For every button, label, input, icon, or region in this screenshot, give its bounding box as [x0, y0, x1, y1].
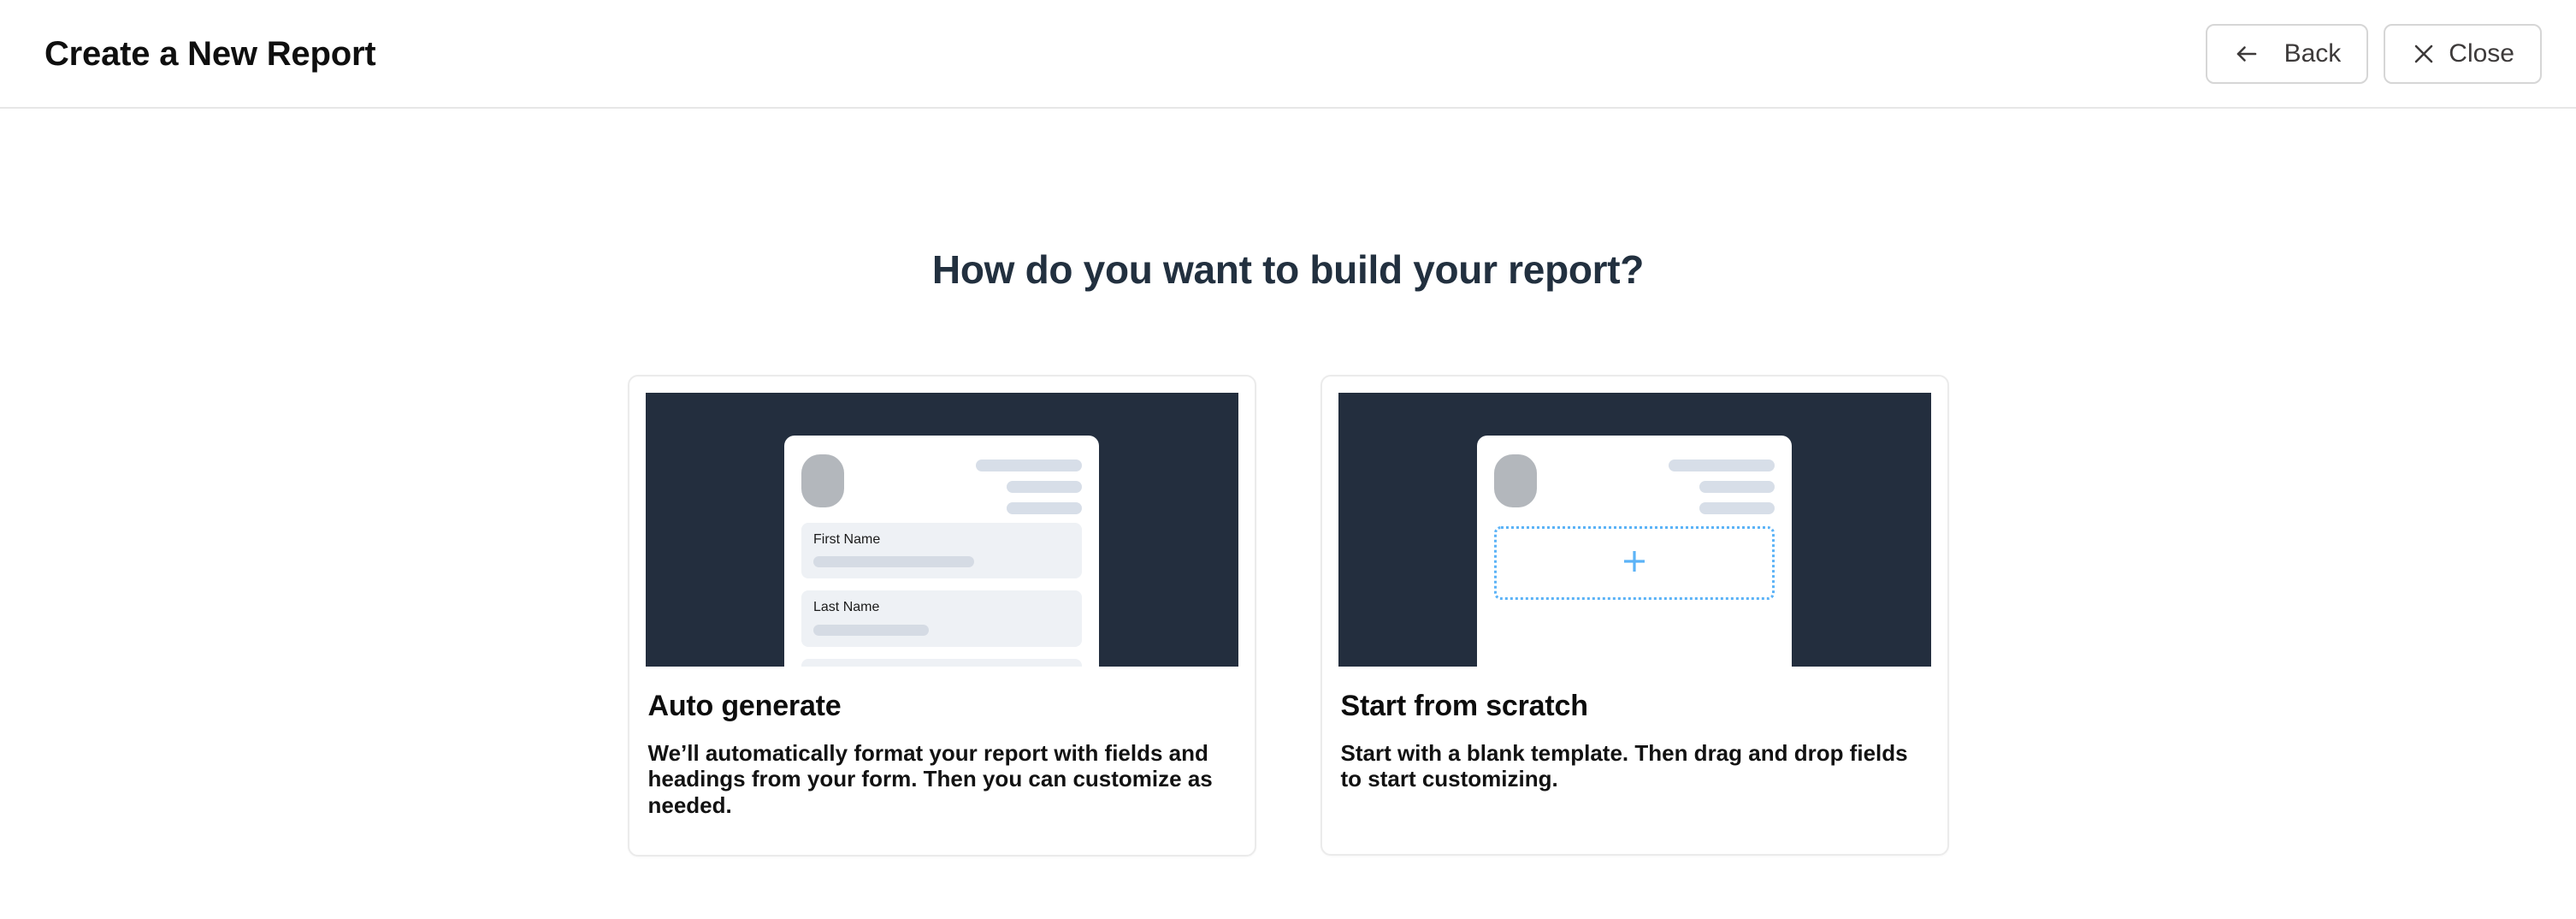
- preview-field-label: Last Name: [813, 600, 1070, 615]
- meta-line: [1699, 481, 1775, 493]
- main-content: How do you want to build your report?: [0, 109, 2576, 919]
- preview-field-bars: [813, 625, 1070, 636]
- meta-line: [1699, 502, 1775, 514]
- close-button[interactable]: Close: [2384, 24, 2542, 84]
- preview-dropzone[interactable]: [1494, 526, 1775, 600]
- option-card-auto-generate[interactable]: First Name Last Name Address: [628, 375, 1256, 857]
- preview-blank-sheet: [1477, 436, 1792, 667]
- preview-sheet-header: [801, 454, 1082, 523]
- back-button[interactable]: Back: [2206, 24, 2369, 84]
- meta-line: [1669, 459, 1775, 471]
- close-label: Close: [2449, 39, 2514, 68]
- meta-line: [1007, 502, 1082, 514]
- preview-field-address: Address: [801, 659, 1082, 667]
- option-title: Auto generate: [648, 691, 1236, 722]
- preview-meta-lines: [1669, 454, 1775, 514]
- placeholder-bar: [813, 556, 974, 567]
- option-title: Start from scratch: [1341, 691, 1929, 722]
- option-card-start-from-scratch[interactable]: Start from scratch Start with a blank te…: [1320, 375, 1949, 856]
- meta-line: [1007, 481, 1082, 493]
- avatar: [801, 454, 844, 507]
- arrow-left-icon: [2233, 40, 2260, 68]
- plus-icon: [1620, 547, 1649, 580]
- start-from-scratch-preview: [1338, 393, 1931, 667]
- meta-line: [976, 459, 1082, 471]
- preview-meta-lines: [976, 454, 1082, 514]
- build-method-heading: How do you want to build your report?: [932, 250, 1644, 289]
- auto-generate-card-body: Auto generate We’ll automatically format…: [646, 667, 1238, 819]
- avatar: [1494, 454, 1537, 507]
- page-title: Create a New Report: [44, 37, 375, 71]
- placeholder-bar: [813, 625, 929, 636]
- option-description: Start with a blank template. Then drag a…: [1341, 740, 1929, 792]
- preview-form-sheet: First Name Last Name Address: [784, 436, 1099, 667]
- close-x-icon: [2411, 41, 2437, 67]
- auto-generate-preview: First Name Last Name Address: [646, 393, 1238, 667]
- option-cards-row: First Name Last Name Address: [628, 375, 1949, 857]
- preview-field-last-name: Last Name: [801, 590, 1082, 646]
- preview-sheet-header: [1494, 454, 1775, 523]
- app-header: Create a New Report Back Close: [0, 0, 2576, 109]
- header-actions: Back Close: [2206, 24, 2542, 84]
- start-from-scratch-card-body: Start from scratch Start with a blank te…: [1338, 667, 1931, 792]
- preview-field-label: First Name: [813, 532, 1070, 548]
- preview-field-bars: [813, 556, 1070, 567]
- option-description: We’ll automatically format your report w…: [648, 740, 1236, 819]
- back-label: Back: [2284, 39, 2342, 68]
- preview-field-first-name: First Name: [801, 523, 1082, 578]
